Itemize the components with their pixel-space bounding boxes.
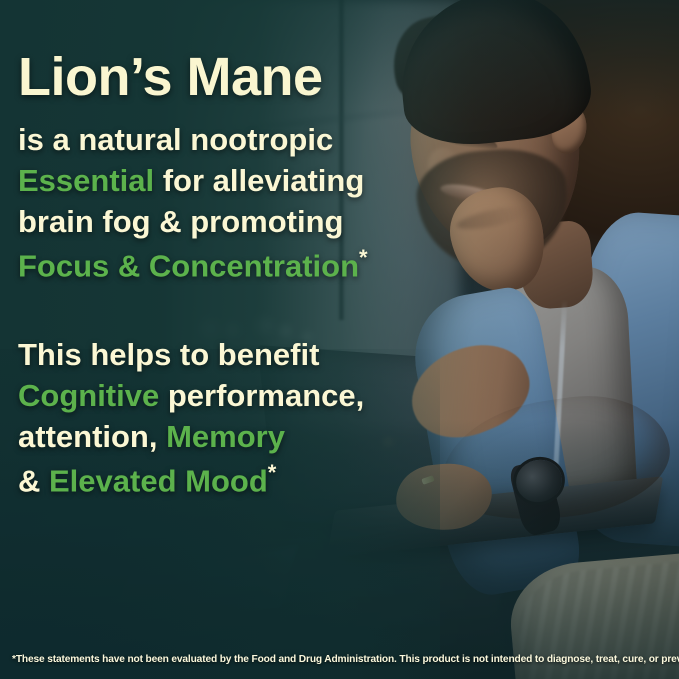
highlight-elevated-mood: Elevated Mood (49, 463, 268, 498)
benefit-one-line-1: is a natural nootropic (18, 120, 448, 161)
benefit-one-line-3: brain fog & promoting (18, 202, 448, 243)
fda-disclaimer: *These statements have not been evaluate… (12, 654, 671, 665)
benefit-one-text-2: for alleviating (154, 163, 364, 198)
benefit-one-text-1: is a natural nootropic (18, 122, 333, 157)
benefit-one-line-4: Focus & Concentration* (18, 243, 448, 287)
highlight-focus-concentration: Focus & Concentration (18, 248, 359, 283)
benefit-two-text-2: performance, (159, 378, 364, 413)
benefit-two-text-1: This helps to benefit (18, 337, 319, 372)
page-title: Lion’s Mane (18, 50, 448, 104)
benefit-two-line-4: & Elevated Mood* (18, 458, 448, 502)
benefit-two-text-3: attention, (18, 419, 166, 454)
footnote-asterisk: * (359, 245, 368, 270)
benefit-statement-two: This helps to benefit Cognitive performa… (18, 335, 448, 502)
marketing-copy: Lion’s Mane is a natural nootropic Essen… (18, 50, 448, 502)
footnote-asterisk: * (268, 460, 277, 485)
benefit-statement-one: is a natural nootropic Essential for all… (18, 120, 448, 287)
product-ad-banner: Lion’s Mane is a natural nootropic Essen… (0, 0, 679, 679)
benefit-one-text-3: brain fog & promoting (18, 204, 343, 239)
highlight-memory: Memory (166, 419, 285, 454)
benefit-two-line-1: This helps to benefit (18, 335, 448, 376)
benefit-two-ampersand: & (18, 463, 49, 498)
benefit-two-line-2: Cognitive performance, (18, 376, 448, 417)
benefit-one-line-2: Essential for alleviating (18, 161, 448, 202)
highlight-essential: Essential (18, 163, 154, 198)
highlight-cognitive: Cognitive (18, 378, 159, 413)
benefit-two-line-3: attention, Memory (18, 417, 448, 458)
